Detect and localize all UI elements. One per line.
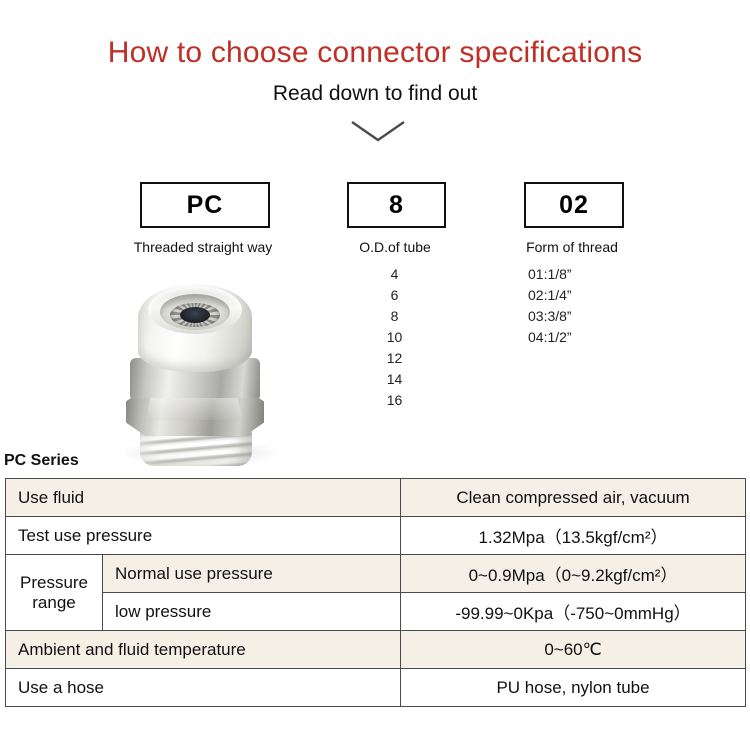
- code-segment-label-2: O.D.of tube: [335, 239, 455, 255]
- chevron-down-icon: [348, 118, 408, 146]
- list-item: 8: [347, 306, 442, 327]
- code-segment-label-1: Threaded straight way: [120, 239, 286, 255]
- product-photo: [100, 262, 320, 477]
- list-item: 04:1/2”: [528, 327, 638, 348]
- spec-label: Use fluid: [6, 479, 401, 517]
- list-item: 16: [347, 390, 442, 411]
- specification-table: Use fluid Clean compressed air, vacuum T…: [5, 478, 746, 707]
- spec-sub-label: low pressure: [103, 593, 401, 631]
- thread-form-option-list: 01:1/8” 02:1/4” 03:3/8” 04:1/2”: [528, 264, 638, 348]
- list-item: 03:3/8”: [528, 306, 638, 327]
- code-segment-box-3: 02: [524, 182, 624, 228]
- table-row: Ambient and fluid temperature 0~60℃: [6, 631, 746, 669]
- series-title: PC Series: [4, 452, 79, 470]
- tube-size-option-list: 4 6 8 10 12 14 16: [347, 264, 442, 411]
- code-segment-box-1: PC: [140, 182, 270, 228]
- list-item: 6: [347, 285, 442, 306]
- spec-label: Test use pressure: [6, 517, 401, 555]
- table-row: Pressure range Normal use pressure 0~0.9…: [6, 555, 746, 593]
- table-row: Test use pressure 1.32Mpa（13.5kgf/cm²）: [6, 517, 746, 555]
- list-item: 4: [347, 264, 442, 285]
- list-item: 10: [347, 327, 442, 348]
- table-row: Use a hose PU hose, nylon tube: [6, 669, 746, 707]
- spec-value: Clean compressed air, vacuum: [401, 479, 746, 517]
- spec-label: Use a hose: [6, 669, 401, 707]
- spec-sub-label: Normal use pressure: [103, 555, 401, 593]
- spec-group-label: Pressure range: [6, 555, 103, 631]
- inner-hole: [180, 307, 210, 323]
- page-title: How to choose connector specifications: [0, 36, 750, 70]
- table-row: low pressure -99.99~0Kpa（-750~0mmHg）: [6, 593, 746, 631]
- spec-label: Ambient and fluid temperature: [6, 631, 401, 669]
- spec-value: -99.99~0Kpa（-750~0mmHg）: [401, 593, 746, 631]
- spec-value: PU hose, nylon tube: [401, 669, 746, 707]
- code-segment-box-2: 8: [347, 182, 446, 228]
- page-subtitle: Read down to find out: [0, 82, 750, 106]
- code-segment-label-3: Form of thread: [512, 239, 632, 255]
- list-item: 01:1/8”: [528, 264, 638, 285]
- spec-value: 0~60℃: [401, 631, 746, 669]
- list-item: 14: [347, 369, 442, 390]
- spec-value: 1.32Mpa（13.5kgf/cm²）: [401, 517, 746, 555]
- table-row: Use fluid Clean compressed air, vacuum: [6, 479, 746, 517]
- spec-value: 0~0.9Mpa（0~9.2kgf/cm²）: [401, 555, 746, 593]
- list-item: 02:1/4”: [528, 285, 638, 306]
- list-item: 12: [347, 348, 442, 369]
